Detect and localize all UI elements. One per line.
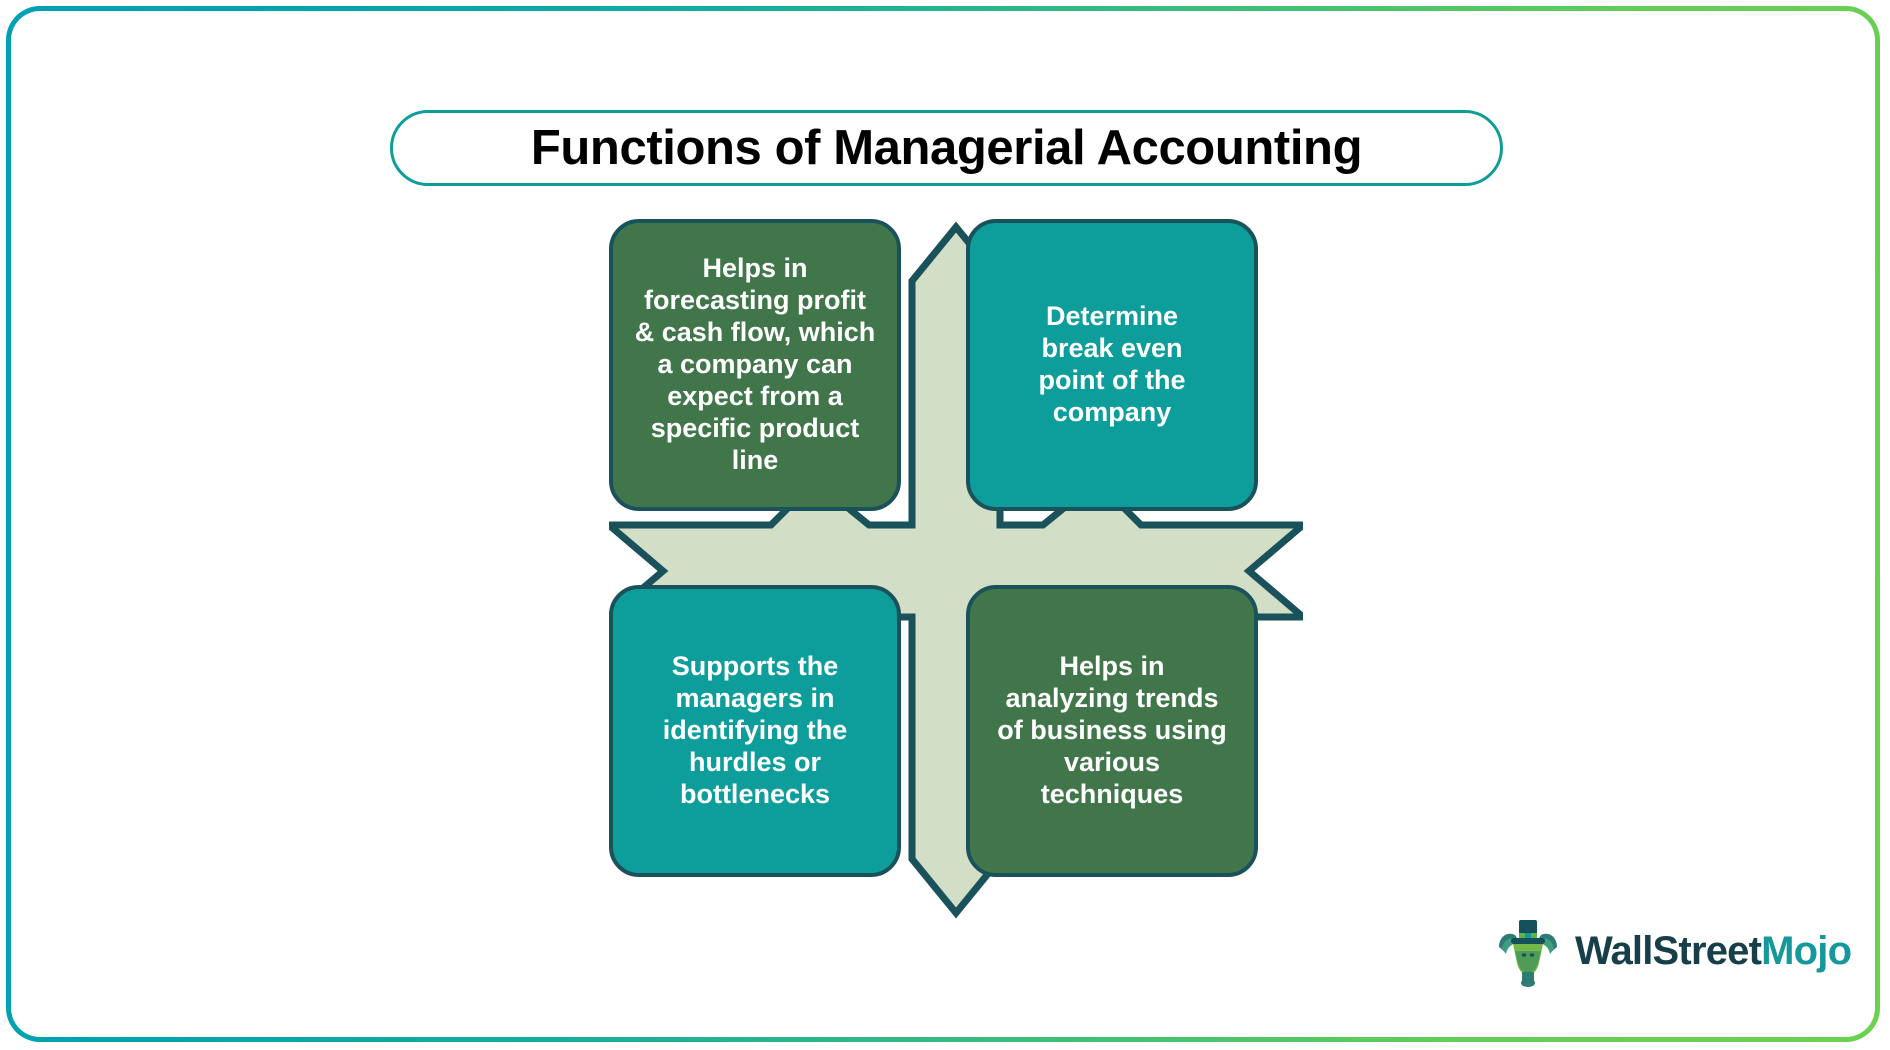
quadrant-bottom-right[interactable]: Helps in analyzing trends of business us… xyxy=(966,585,1258,877)
quadrant-top-left-label: Helps in forecasting profit & cash flow,… xyxy=(635,253,876,476)
page-title-pill: Functions of Managerial Accounting xyxy=(390,110,1503,186)
quadrant-top-right-label: Determine break even point of the compan… xyxy=(1039,301,1186,428)
brand-word-accent: Mojo xyxy=(1761,929,1851,973)
bull-mascot-icon xyxy=(1493,915,1563,987)
brand-word-primary: WallStreet xyxy=(1575,929,1761,973)
quadrant-bottom-left-label: Supports the managers in identifying the… xyxy=(663,651,848,810)
quadrant-top-right[interactable]: Determine break even point of the compan… xyxy=(966,219,1258,511)
page-frame: Functions of Managerial Accounting Helps… xyxy=(6,6,1880,1042)
brand-logo: WallStreetMojo xyxy=(1493,913,1813,989)
brand-wordmark: WallStreetMojo xyxy=(1575,931,1851,971)
quadrant-bottom-left[interactable]: Supports the managers in identifying the… xyxy=(609,585,901,877)
quadrant-top-left[interactable]: Helps in forecasting profit & cash flow,… xyxy=(609,219,901,511)
page-title: Functions of Managerial Accounting xyxy=(531,124,1362,173)
quadrant-diagram: Helps in forecasting profit & cash flow,… xyxy=(609,219,1303,919)
page-canvas: Functions of Managerial Accounting Helps… xyxy=(11,11,1875,1037)
quadrant-bottom-right-label: Helps in analyzing trends of business us… xyxy=(997,651,1227,810)
